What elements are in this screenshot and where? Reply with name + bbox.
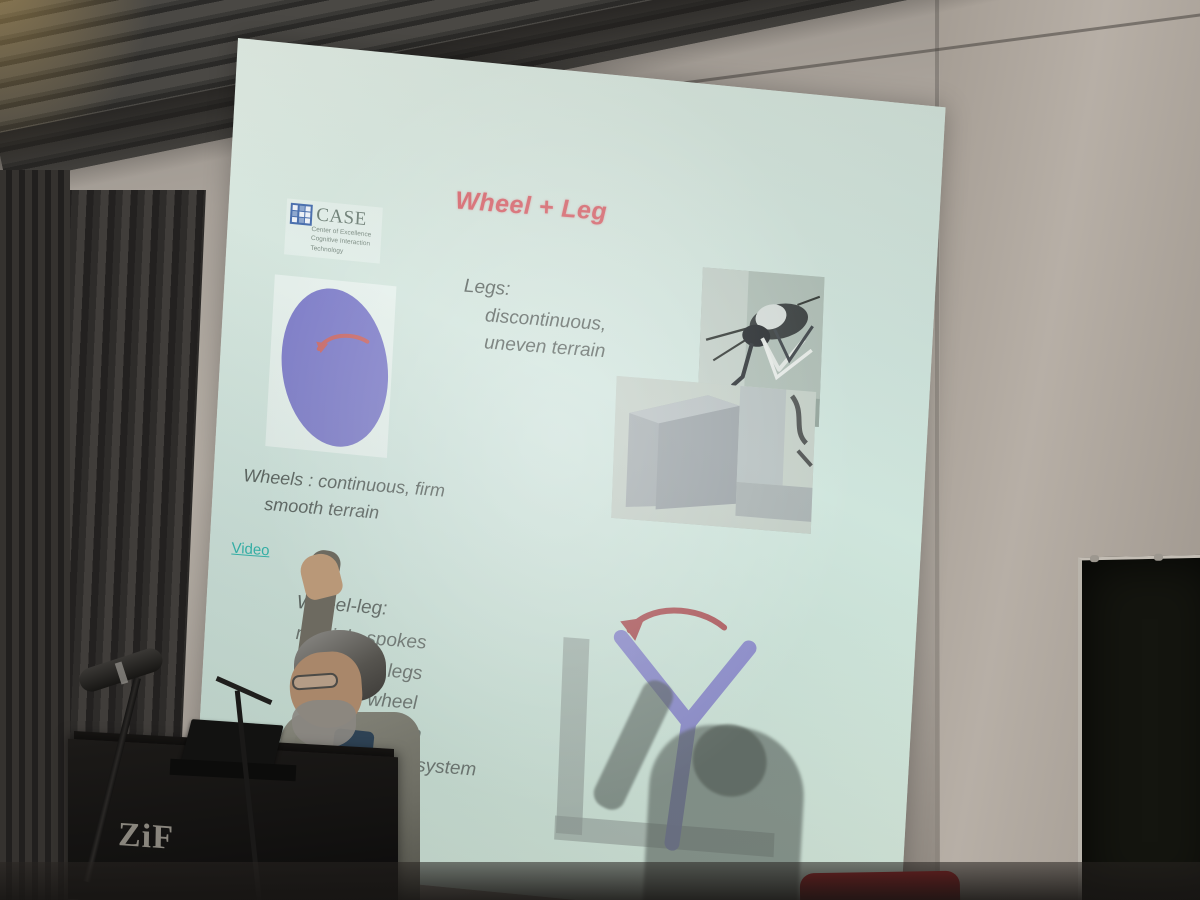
legs-text-block: Legs: discontinuous, uneven terrain bbox=[462, 273, 608, 366]
case-logo-subtitle-line-3: Technology bbox=[310, 245, 343, 255]
cube-obstacle-photo bbox=[611, 376, 816, 534]
presenter-glasses-icon bbox=[292, 672, 339, 690]
wheels-text-block: Wheels : continuous, firm smooth terrain bbox=[242, 462, 445, 532]
board-mount-knob-left bbox=[1090, 555, 1099, 562]
case-logo-mark-icon bbox=[290, 203, 313, 226]
lecture-hall-scene: CASE Center of Excellence Cognitive Inte… bbox=[0, 0, 1200, 900]
wall-mounted-dark-board bbox=[1078, 555, 1200, 900]
presenter-beard bbox=[292, 700, 356, 748]
case-logo: CASE Center of Excellence Cognitive Inte… bbox=[284, 198, 383, 263]
zif-venue-logo: ZiF bbox=[118, 816, 175, 858]
gray-cube-illustration-icon bbox=[611, 376, 816, 534]
floor-shadow bbox=[0, 862, 1200, 900]
board-mount-knob-right bbox=[1154, 554, 1163, 561]
slide-title: Wheel + Leg bbox=[455, 186, 608, 227]
case-logo-subtitle: Center of Excellence Cognitive Interacti… bbox=[310, 225, 377, 260]
dark-window-curtain-edge bbox=[0, 170, 70, 900]
wheel-rotation-arrow-icon bbox=[312, 322, 374, 362]
video-hyperlink[interactable]: Video bbox=[231, 540, 270, 560]
